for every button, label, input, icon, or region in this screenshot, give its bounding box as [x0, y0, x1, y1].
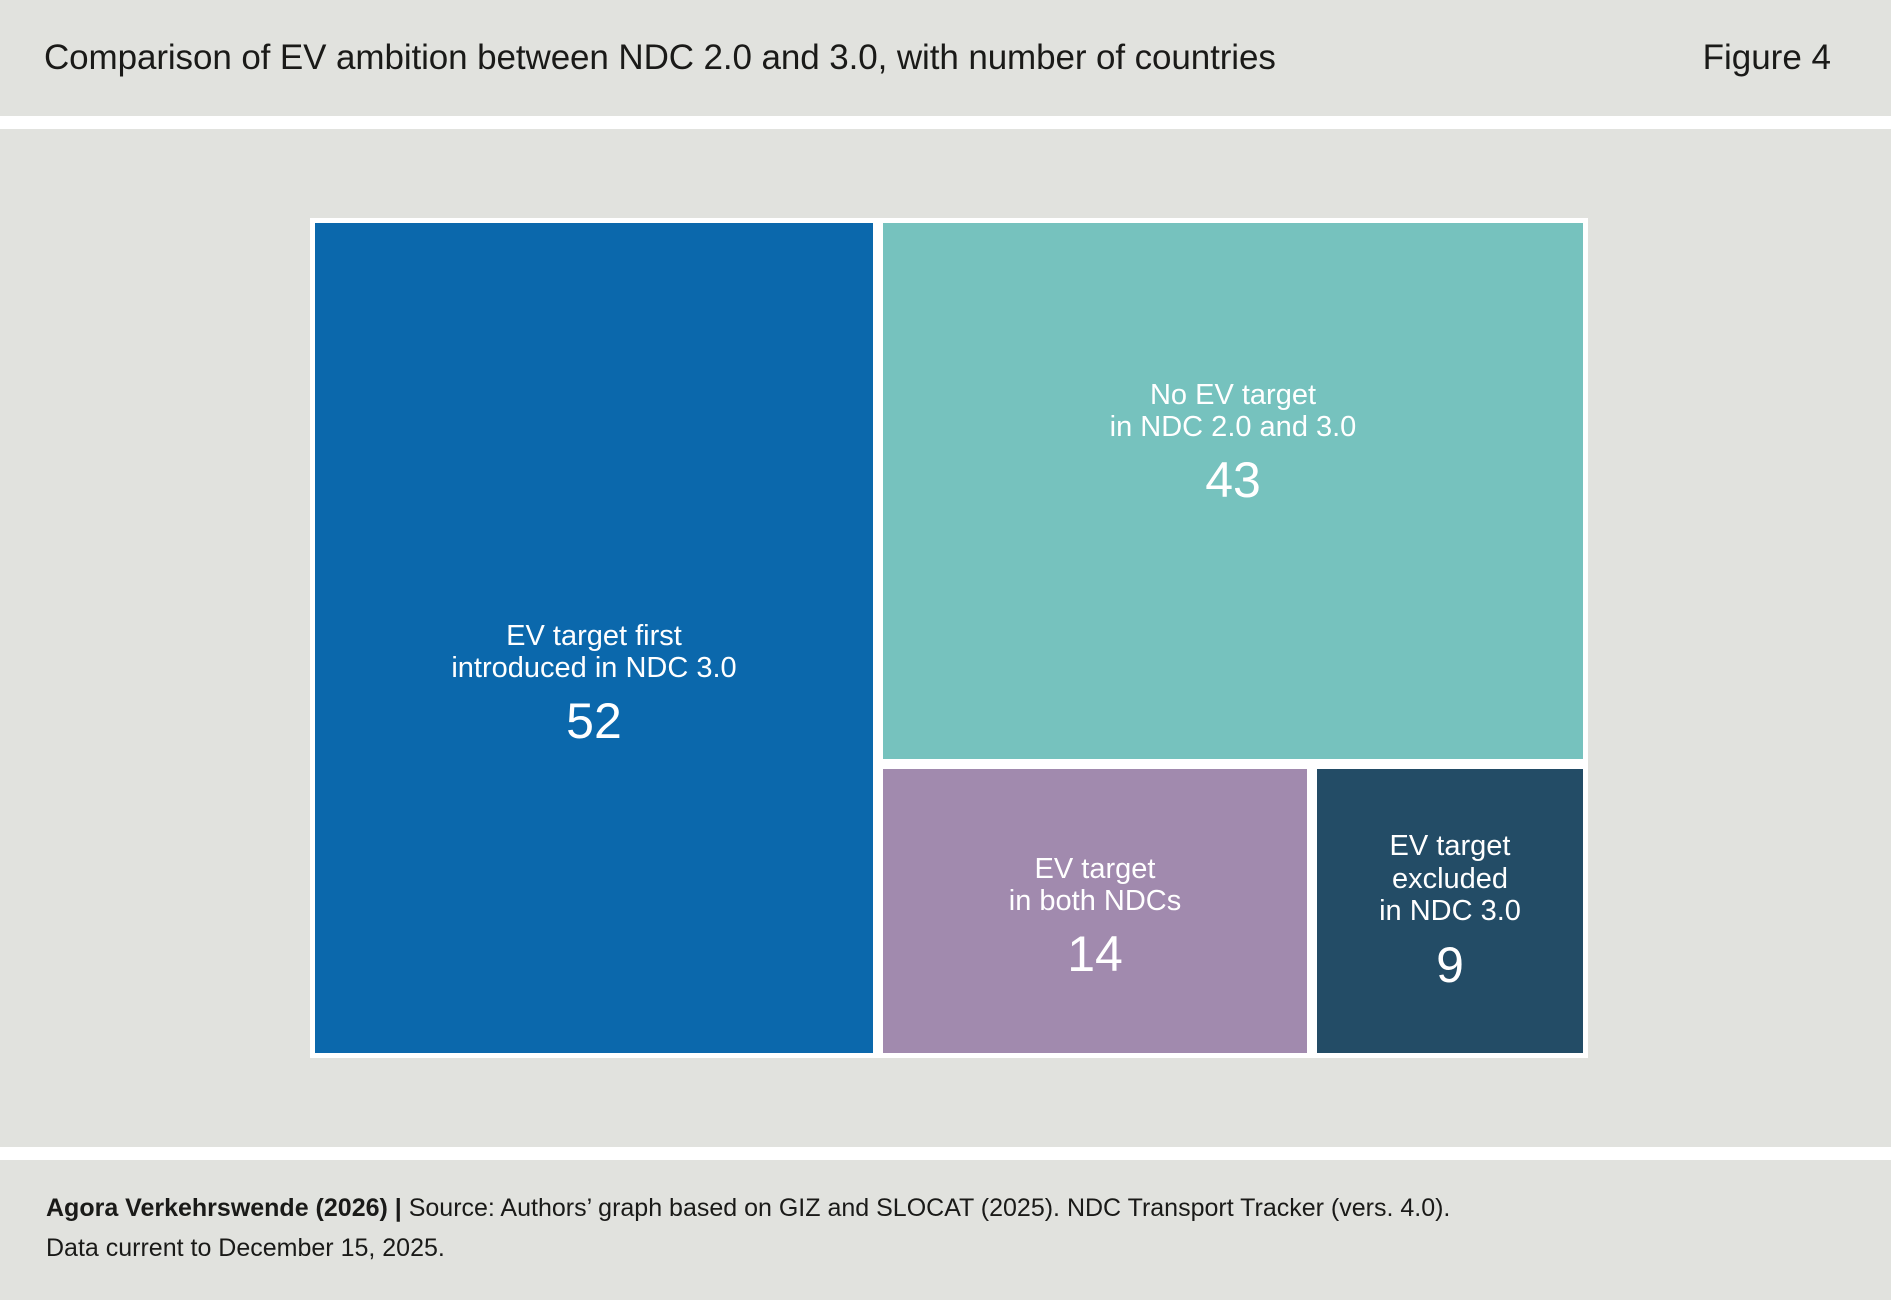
figure-footer: Agora Verkehrswende (2026) | Source: Aut…	[0, 1160, 1891, 1300]
chart-area: EV target first introduced in NDC 3.0 52…	[0, 129, 1891, 1147]
tile-value: 43	[1205, 453, 1261, 507]
footer-divider	[0, 1147, 1891, 1160]
tile-label: EV target excluded in NDC 3.0	[1379, 830, 1521, 927]
figure-number-label: Figure 4	[1703, 38, 1847, 78]
tile-label: No EV target in NDC 2.0 and 3.0	[1110, 379, 1357, 444]
tile-content: No EV target in NDC 2.0 and 3.0 43	[1110, 379, 1357, 508]
tile-value: 14	[1067, 927, 1123, 981]
data-currency-note: Data current to December 15, 2025.	[46, 1229, 1847, 1269]
tile-value: 52	[566, 694, 622, 748]
treemap-tile-ev-target-in-both-ndcs[interactable]: EV target in both NDCs 14	[878, 764, 1312, 1058]
tile-content: EV target in both NDCs 14	[1009, 853, 1181, 982]
figure-header: Comparison of EV ambition between NDC 2.…	[0, 0, 1891, 116]
source-publisher: Agora Verkehrswende (2026) |	[46, 1194, 402, 1222]
treemap-chart: EV target first introduced in NDC 3.0 52…	[310, 218, 1588, 1058]
source-note: Agora Verkehrswende (2026) | Source: Aut…	[46, 1189, 1847, 1268]
tile-label: EV target in both NDCs	[1009, 853, 1181, 918]
figure-page: Comparison of EV ambition between NDC 2.…	[0, 0, 1891, 1300]
page-title: Comparison of EV ambition between NDC 2.…	[44, 38, 1276, 78]
header-divider	[0, 116, 1891, 129]
treemap-tile-no-ev-target-ndc20-and-30[interactable]: No EV target in NDC 2.0 and 3.0 43	[878, 218, 1588, 764]
source-line: Agora Verkehrswende (2026) | Source: Aut…	[46, 1189, 1847, 1229]
tile-value: 9	[1436, 938, 1464, 992]
tile-content: EV target excluded in NDC 3.0 9	[1379, 830, 1521, 991]
treemap-tile-ev-target-first-introduced-ndc30[interactable]: EV target first introduced in NDC 3.0 52	[310, 218, 878, 1058]
tile-content: EV target first introduced in NDC 3.0 52	[451, 620, 736, 749]
tile-label: EV target first introduced in NDC 3.0	[451, 620, 736, 685]
source-detail: Source: Authors’ graph based on GIZ and …	[402, 1194, 1451, 1222]
treemap-tile-ev-target-excluded-ndc30[interactable]: EV target excluded in NDC 3.0 9	[1312, 764, 1588, 1058]
figure-header-inner: Comparison of EV ambition between NDC 2.…	[44, 0, 1847, 116]
